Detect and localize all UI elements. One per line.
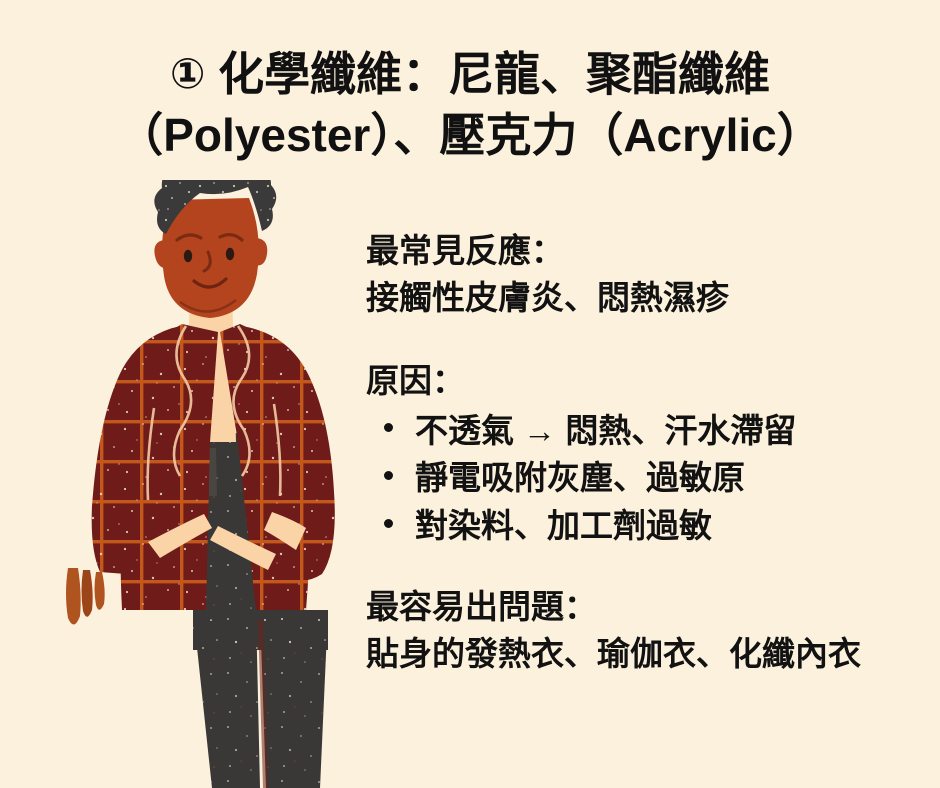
bullet-dot-icon — [384, 423, 393, 432]
bullet-dot-icon — [384, 519, 393, 528]
list-item: 對染料、加工劑過敏 — [366, 502, 926, 550]
section-most-problematic: 最容易出問題： 貼身的發熱衣、瑜伽衣、化纖內衣 — [366, 584, 926, 678]
plaid-jacket-shape — [66, 324, 335, 625]
section-heading: 最常見反應： — [366, 228, 926, 275]
section-body: 貼身的發熱衣、瑜伽衣、化纖內衣 — [366, 631, 926, 678]
bullet-dot-icon — [384, 471, 393, 480]
section-body: 接觸性皮膚炎、悶熱濕疹 — [366, 275, 926, 322]
spacer-1 — [366, 322, 926, 358]
title-line-2: （Polyester）、壓克力（Acrylic） — [0, 105, 940, 166]
body-text-column: 最常見反應： 接觸性皮膚炎、悶熱濕疹 原因： 不透氣 → 悶熱、汗水滯留 靜電吸… — [366, 228, 926, 678]
illustration-man-in-plaid-jacket — [60, 180, 370, 788]
causes-bullet-list: 不透氣 → 悶熱、汗水滯留 靜電吸附灰塵、過敏原 對染料、加工劑過敏 — [366, 407, 926, 551]
list-item-label: 不透氣 → 悶熱、汗水滯留 — [415, 412, 796, 449]
spacer-2 — [366, 550, 926, 584]
list-item: 不透氣 → 悶熱、汗水滯留 — [366, 407, 926, 455]
section-common-reaction: 最常見反應： 接觸性皮膚炎、悶熱濕疹 — [366, 228, 926, 322]
page-title: ① 化學纖維：尼龍、聚酯纖維 （Polyester）、壓克力（Acrylic） — [0, 44, 940, 165]
section-causes: 原因： 不透氣 → 悶熱、汗水滯留 靜電吸附灰塵、過敏原 對染料、加工劑過敏 — [366, 358, 926, 550]
sleeve-fringe — [66, 568, 105, 625]
list-item-label: 靜電吸附灰塵、過敏原 — [415, 459, 745, 496]
slide-canvas: ① 化學纖維：尼龍、聚酯纖維 （Polyester）、壓克力（Acrylic） — [0, 0, 940, 788]
title-line-1: ① 化學纖維：尼龍、聚酯纖維 — [0, 44, 940, 105]
section-heading: 原因： — [366, 358, 926, 405]
list-item: 靜電吸附灰塵、過敏原 — [366, 454, 926, 502]
section-heading: 最容易出問題： — [366, 584, 926, 631]
title-line-1-text: 化學纖維：尼龍、聚酯纖維 — [205, 48, 770, 100]
head-shape — [154, 180, 276, 318]
list-item-label: 對染料、加工劑過敏 — [415, 507, 712, 544]
circled-number-icon: ① — [170, 49, 206, 98]
